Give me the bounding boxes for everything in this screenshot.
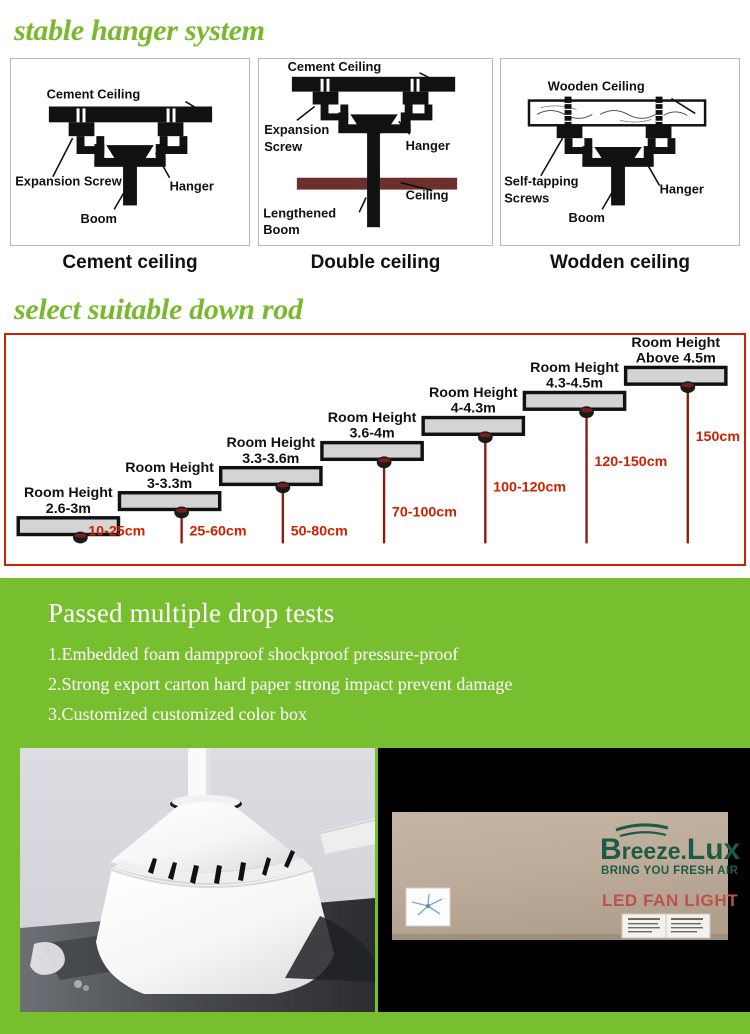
step-rod-length: 150cm xyxy=(696,429,740,445)
label-boom: Boom xyxy=(81,211,117,226)
label-screws: Screws xyxy=(504,190,549,205)
step-slab xyxy=(322,443,422,460)
label-false-ceiling: Ceiling xyxy=(406,187,449,202)
label-wooden-ceiling: Wooden Ceiling xyxy=(548,79,645,94)
step-rod-length: 25-60cm xyxy=(189,523,246,539)
rod-mount-highlight xyxy=(277,483,289,487)
label-hanger: Hanger xyxy=(406,138,450,153)
step-room-height-line1: Room Height xyxy=(530,360,619,376)
step-room-height-line2: 3-3.3m xyxy=(147,476,192,492)
step-room-height-line1: Room Height xyxy=(631,335,720,351)
diagram-row: Cement Ceiling Expansion Screw Hanger Bo… xyxy=(0,58,750,246)
diagram-wooden-ceiling: Wooden Ceiling Self-tapping Screws Hange… xyxy=(500,58,740,246)
rod-mount-highlight xyxy=(581,408,593,412)
step-room-height-line1: Room Height xyxy=(24,485,113,501)
step-slab xyxy=(524,392,624,409)
step-slab xyxy=(221,468,321,485)
label-cement-ceiling: Cement Ceiling xyxy=(47,87,141,102)
caption-wooden-ceiling: Wodden ceiling xyxy=(500,252,740,274)
downrod-staircase-svg: Room Height2.6-3m10-25cmRoom Height3-3.3… xyxy=(6,335,744,564)
diagram-double-ceiling: Cement Ceiling Expansion Screw Hanger Le… xyxy=(258,58,493,246)
label-self-tapping: Self-tapping xyxy=(504,174,578,189)
rod-mount-highlight xyxy=(378,458,390,462)
rod-mount-highlight xyxy=(74,533,86,537)
label-expansion-screw: Expansion Screw xyxy=(15,174,122,189)
label-boom: Boom xyxy=(263,222,299,237)
diagram-cement-ceiling: Cement Ceiling Expansion Screw Hanger Bo… xyxy=(10,58,250,246)
product-name: LED FAN LIGHT xyxy=(602,891,738,910)
downrod-title: select suitable down rod xyxy=(14,293,303,327)
photo-fan-motor-housing xyxy=(20,748,375,1012)
step-slab xyxy=(119,493,219,510)
hanger-system-section: stable hanger system xyxy=(0,0,750,578)
caption-double-ceiling: Double ceiling xyxy=(258,252,493,274)
step-room-height-line2: 4-4.3m xyxy=(451,401,496,417)
step-rod-length: 10-25cm xyxy=(88,523,145,539)
step-slab xyxy=(423,418,523,435)
drop-test-bullet-1: 1.Embedded foam dampproof shockproof pre… xyxy=(48,644,458,665)
diagram-caption-row: Cement ceiling Double ceiling Wodden cei… xyxy=(0,252,750,282)
brand-tagline: BRING YOU FRESH AIR xyxy=(601,865,739,877)
caption-cement-ceiling: Cement ceiling xyxy=(10,252,250,274)
label-hanger: Hanger xyxy=(170,179,214,194)
step-room-height-line2: 3.6-4m xyxy=(349,426,394,442)
photo-product-carton: Breeze.Lux BRING YOU FRESH AIR LED FAN L… xyxy=(378,748,750,1012)
drop-test-bullet-3: 3.Customized customized color box xyxy=(48,704,307,725)
rod-mount-highlight xyxy=(479,433,491,437)
label-screw: Screw xyxy=(264,139,303,154)
step-room-height-line2: 2.6-3m xyxy=(46,501,91,517)
label-hanger: Hanger xyxy=(660,182,704,197)
label-lengthened: Lengthened xyxy=(263,205,336,220)
step-room-height-line2: 3.3-3.6m xyxy=(242,451,299,467)
step-room-height-line2: 4.3-4.5m xyxy=(546,376,603,392)
step-rod-length: 70-100cm xyxy=(392,504,457,520)
drop-test-heading: Passed multiple drop tests xyxy=(48,598,334,629)
hanger-system-title: stable hanger system xyxy=(14,14,265,48)
rod-mount-highlight xyxy=(682,383,694,387)
step-room-height-line1: Room Height xyxy=(226,435,315,451)
step-room-height-line1: Room Height xyxy=(429,385,518,401)
step-rod-length: 120-150cm xyxy=(594,454,667,470)
rod-mount-highlight xyxy=(176,508,188,512)
label-boom: Boom xyxy=(569,210,605,225)
step-rod-length: 100-120cm xyxy=(493,479,566,495)
drop-test-section: Passed multiple drop tests 1.Embedded fo… xyxy=(0,578,750,1034)
step-room-height-line2: Above 4.5m xyxy=(636,351,716,367)
step-room-height-line1: Room Height xyxy=(125,460,214,476)
step-rod-length: 50-80cm xyxy=(291,523,348,539)
step-room-height-line1: Room Height xyxy=(328,410,417,426)
brand-name: Breeze.Lux xyxy=(600,833,741,866)
drop-test-bullet-2: 2.Strong export carton hard paper strong… xyxy=(48,674,512,695)
label-expansion: Expansion xyxy=(264,122,329,137)
downrod-chart: Room Height2.6-3m10-25cmRoom Height3-3.3… xyxy=(4,333,746,566)
label-cement-ceiling: Cement Ceiling xyxy=(288,59,382,74)
step-slab xyxy=(626,367,726,384)
